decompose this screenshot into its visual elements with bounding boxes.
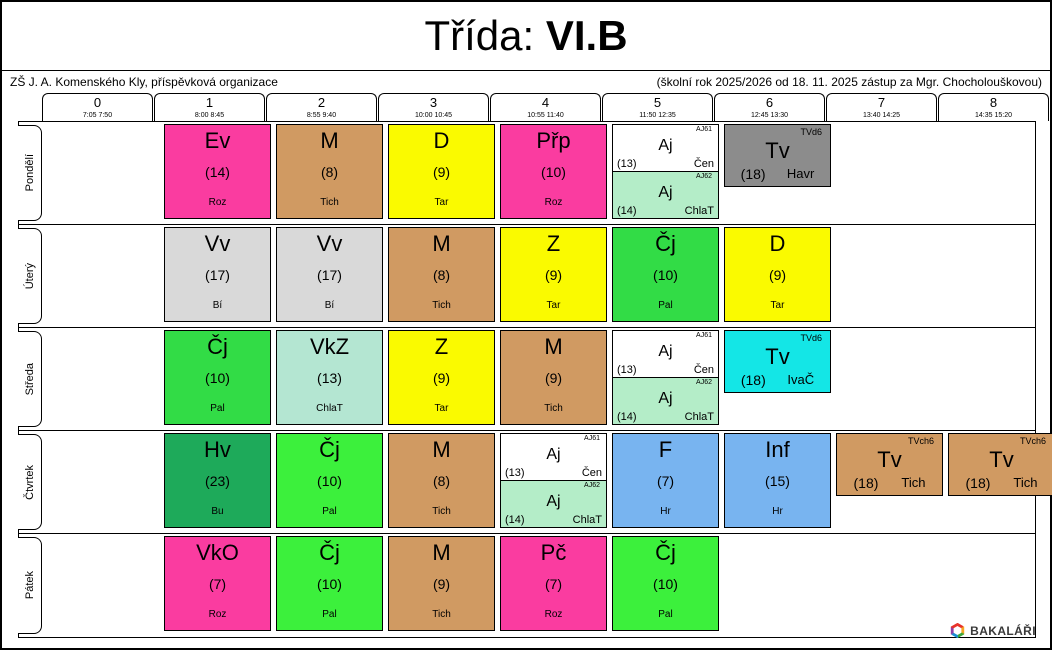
timetable-slot (946, 122, 1052, 224)
lesson-teacher: Tich (389, 610, 494, 620)
day-slots: Čj(10)PalVkZ(13)ChlaTZ(9)TarM(9)TichAJ61… (42, 328, 1052, 430)
lesson-card[interactable]: M(8)Tich (388, 227, 495, 322)
period-number: 2 (318, 96, 325, 109)
day-label: Čtvrtek (24, 465, 36, 500)
timetable-slot: Čj(10)Pal (162, 328, 273, 430)
lesson-teacher: Tich (501, 404, 606, 414)
timetable-slot (50, 225, 161, 327)
timetable-slot: TVch6Tv(18)Tich (946, 431, 1052, 533)
period-header-cell: 612:45 13:30 (714, 93, 825, 121)
lesson-room: (14) (617, 206, 637, 217)
lesson-teacher: Roz (501, 610, 606, 620)
day-row: ÚterýVv(17)BíVv(17)BíM(8)TichZ(9)TarČj(1… (19, 225, 1035, 328)
timetable-slot: F(7)Hr (610, 431, 721, 533)
lesson-teacher: Tich (389, 507, 494, 517)
day-label-tab: Pondělí (18, 125, 42, 221)
lesson-card-group[interactable]: TVch6Tv(18)Tich (836, 433, 943, 496)
lesson-teacher: Roz (501, 198, 606, 208)
period-header-cell: 511:50 12:35 (602, 93, 713, 121)
day-row: StředaČj(10)PalVkZ(13)ChlaTZ(9)TarM(9)Ti… (19, 328, 1035, 431)
timetable-slot: Z(9)Tar (386, 328, 497, 430)
lesson-room: (15) (725, 474, 830, 488)
timetable-slot: Přp(10)Roz (498, 122, 609, 224)
lesson-room: (10) (165, 371, 270, 385)
lesson-subject: Aj (613, 344, 718, 363)
lesson-subject: Tv (949, 449, 1052, 471)
lesson-teacher: ChlaT (277, 404, 382, 414)
lesson-room: (10) (613, 577, 718, 591)
lesson-card[interactable]: Vv(17)Bí (276, 227, 383, 322)
period-time: 8:55 9:40 (307, 111, 336, 120)
period-time: 13:40 14:25 (863, 111, 900, 120)
lesson-teacher: Pal (277, 610, 382, 620)
timetable-slot: Inf(15)Hr (722, 431, 833, 533)
timetable-slot (946, 534, 1052, 637)
bakalari-logo-icon (950, 623, 965, 638)
lesson-card-split: AJ61Aj(13)ČenAJ62Aj(14)ChlaT (612, 124, 719, 219)
lesson-card-group[interactable]: TVd6Tv(18)IvaČ (724, 330, 831, 393)
lesson-room: (13) (617, 365, 637, 376)
lesson-teacher: Tich (1013, 478, 1037, 488)
lesson-room: (10) (613, 268, 718, 282)
lesson-subject: Z (389, 336, 494, 358)
period-time: 7:05 7:50 (83, 111, 112, 120)
lesson-teacher: Havr (787, 169, 814, 179)
timetable-slot (50, 431, 161, 533)
lesson-subject: Vv (277, 233, 382, 255)
lesson-details: (18)IvaČ (725, 373, 830, 387)
lesson-group-half[interactable]: AJ62Aj(14)ChlaT (613, 378, 718, 425)
lesson-subject: M (501, 336, 606, 358)
lesson-room: (9) (501, 268, 606, 282)
period-number: 3 (430, 96, 437, 109)
period-number: 7 (878, 96, 885, 109)
title-bar: Třída: VI.B (2, 2, 1050, 71)
lesson-details: (13)Čen (613, 157, 718, 171)
schedule-note: (školní rok 2025/2026 od 18. 11. 2025 zá… (657, 75, 1042, 89)
lesson-teacher: Bí (165, 301, 270, 311)
period-time: 11:50 12:35 (639, 111, 675, 120)
page-title-class: VI.B (546, 12, 628, 59)
lesson-teacher: Roz (165, 198, 270, 208)
lesson-subject: M (389, 542, 494, 564)
timetable-slot: M(8)Tich (386, 225, 497, 327)
period-header-cell: 713:40 14:25 (826, 93, 937, 121)
lesson-card[interactable]: Přp(10)Roz (500, 124, 607, 219)
lesson-room: (23) (165, 474, 270, 488)
lesson-room: (8) (277, 165, 382, 179)
lesson-room: (14) (617, 412, 637, 423)
timetable-slot (834, 122, 945, 224)
lesson-card[interactable]: F(7)Hr (612, 433, 719, 528)
lesson-subject: Hv (165, 439, 270, 461)
day-label: Pátek (24, 571, 36, 599)
period-header-cell: 310:00 10:45 (378, 93, 489, 121)
lesson-card[interactable]: M(9)Tich (388, 536, 495, 631)
lesson-teacher: Tar (725, 301, 830, 311)
period-time: 8:00 8:45 (195, 111, 224, 120)
day-slots: Hv(23)BuČj(10)PalM(8)TichAJ61Aj(13)ČenAJ… (42, 431, 1052, 533)
lesson-details: (13)Čen (501, 466, 606, 480)
lesson-teacher: Hr (725, 507, 830, 517)
lesson-teacher: ChlaT (685, 206, 714, 217)
lesson-subject: Čj (613, 233, 718, 255)
lesson-subject: Čj (277, 439, 382, 461)
lesson-room: (7) (165, 577, 270, 591)
lesson-teacher: Tich (277, 198, 382, 208)
timetable-slot (50, 534, 161, 637)
lesson-room: (18) (741, 167, 766, 181)
timetable-slot: Pč(7)Roz (498, 534, 609, 637)
timetable-slot: Ev(14)Roz (162, 122, 273, 224)
lesson-subject: VkZ (277, 336, 382, 358)
lesson-subject: Aj (613, 185, 718, 205)
lesson-subject: Čj (613, 542, 718, 564)
lesson-teacher: Bu (165, 507, 270, 517)
day-label: Pondělí (24, 154, 36, 191)
lesson-details: (14)ChlaT (501, 513, 606, 527)
lesson-room: (17) (165, 268, 270, 282)
lesson-subject: Tv (837, 449, 942, 471)
lesson-teacher: Čen (694, 159, 714, 170)
lesson-subject: Aj (501, 447, 606, 466)
lesson-details: (18)Havr (725, 167, 830, 181)
lesson-group: TVch6 (949, 436, 1052, 447)
timetable-slot: Čj(10)Pal (274, 534, 385, 637)
bakalari-logo-text: BAKALÁŘI (970, 624, 1036, 638)
lesson-card[interactable]: M(8)Tich (276, 124, 383, 219)
period-number: 5 (654, 96, 661, 109)
lesson-card-split: AJ61Aj(13)ČenAJ62Aj(14)ChlaT (612, 330, 719, 425)
timetable-slot: Čj(10)Pal (274, 431, 385, 533)
day-row: PátekVkO(7)RozČj(10)PalM(9)TichPč(7)RozČ… (19, 534, 1035, 637)
bakalari-logo: BAKALÁŘI (950, 623, 1036, 638)
timetable-slot: M(8)Tich (274, 122, 385, 224)
period-header-cell: 28:55 9:40 (266, 93, 377, 121)
timetable-slot (50, 122, 161, 224)
lesson-card[interactable]: Čj(10)Pal (276, 536, 383, 631)
day-label: Úterý (24, 263, 36, 289)
day-slots: VkO(7)RozČj(10)PalM(9)TichPč(7)RozČj(10)… (42, 534, 1052, 637)
lesson-details: (14)ChlaT (613, 204, 718, 218)
lesson-room: (14) (165, 165, 270, 179)
lesson-teacher: Tich (389, 301, 494, 311)
lesson-room: (9) (389, 371, 494, 385)
timetable-slot (722, 534, 833, 637)
lesson-teacher: ChlaT (573, 515, 602, 526)
lesson-group-half[interactable]: AJ61Aj(13)Čen (613, 331, 718, 378)
lesson-details: (14)ChlaT (613, 410, 718, 424)
lesson-card[interactable]: Čj(10)Pal (612, 536, 719, 631)
timetable-slot: Vv(17)Bí (162, 225, 273, 327)
timetable-slot: TVd6Tv(18)Havr (722, 122, 833, 224)
day-row: ČtvrtekHv(23)BuČj(10)PalM(8)TichAJ61Aj(1… (19, 431, 1035, 534)
timetable-slot (834, 534, 945, 637)
period-time: 14:35 15:20 (975, 111, 1012, 120)
timetable-slot: Hv(23)Bu (162, 431, 273, 533)
timetable-slot: D(9)Tar (386, 122, 497, 224)
lesson-group: AJ62 (613, 172, 718, 185)
lesson-subject: Vv (165, 233, 270, 255)
timetable-slot: VkO(7)Roz (162, 534, 273, 637)
lesson-teacher: IvaČ (787, 375, 814, 385)
timetable-slot: Čj(10)Pal (610, 534, 721, 637)
lesson-card[interactable]: Hv(23)Bu (164, 433, 271, 528)
lesson-group-half[interactable]: AJ62Aj(14)ChlaT (613, 172, 718, 219)
lesson-subject: Aj (501, 494, 606, 514)
lesson-card[interactable]: M(9)Tich (500, 330, 607, 425)
lesson-subject: D (389, 130, 494, 152)
lesson-subject: M (389, 233, 494, 255)
day-label-tab: Čtvrtek (18, 434, 42, 530)
lesson-teacher: Pal (165, 404, 270, 414)
lesson-teacher: ChlaT (685, 412, 714, 423)
lesson-card[interactable]: Pč(7)Roz (500, 536, 607, 631)
period-number: 0 (94, 96, 101, 109)
lesson-teacher: Čen (582, 468, 602, 479)
lesson-teacher: Čen (694, 365, 714, 376)
timetable-slot (834, 328, 945, 430)
lesson-room: (18) (741, 373, 766, 387)
lesson-room: (13) (505, 468, 525, 479)
lesson-room: (10) (277, 474, 382, 488)
day-slots: Ev(14)RozM(8)TichD(9)TarPřp(10)RozAJ61Aj… (42, 122, 1052, 224)
lesson-subject: F (613, 439, 718, 461)
lesson-teacher: Tar (389, 404, 494, 414)
period-header-cell: 18:00 8:45 (154, 93, 265, 121)
timetable-slot (946, 328, 1052, 430)
lesson-teacher: Hr (613, 507, 718, 517)
timetable-slot (946, 225, 1052, 327)
day-slots: Vv(17)BíVv(17)BíM(8)TichZ(9)TarČj(10)Pal… (42, 225, 1052, 327)
lesson-card[interactable]: Čj(10)Pal (164, 330, 271, 425)
lesson-card[interactable]: VkO(7)Roz (164, 536, 271, 631)
lesson-subject: Z (501, 233, 606, 255)
period-header-cell: 410:55 11:40 (490, 93, 601, 121)
lesson-subject: Aj (613, 391, 718, 411)
lesson-card-group[interactable]: TVch6Tv(18)Tich (948, 433, 1052, 496)
timetable-slot: M(8)Tich (386, 431, 497, 533)
lesson-room: (9) (389, 165, 494, 179)
timetable-slot: Čj(10)Pal (610, 225, 721, 327)
lesson-card[interactable]: Čj(10)Pal (276, 433, 383, 528)
period-time: 12:45 13:30 (751, 111, 788, 120)
school-name: ZŠ J. A. Komenského Kly, příspěvková org… (10, 75, 278, 89)
timetable-slot: M(9)Tich (386, 534, 497, 637)
lesson-room: (18) (966, 476, 991, 490)
day-label-tab: Pátek (18, 537, 42, 634)
lesson-card[interactable]: Inf(15)Hr (724, 433, 831, 528)
lesson-group: TVd6 (725, 127, 830, 138)
lesson-room: (13) (617, 159, 637, 170)
lesson-subject: Přp (501, 130, 606, 152)
timetable-page: Třída: VI.B ZŠ J. A. Komenského Kly, pří… (0, 0, 1052, 650)
lesson-teacher: Roz (165, 610, 270, 620)
lesson-card[interactable]: M(8)Tich (388, 433, 495, 528)
lesson-room: (7) (501, 577, 606, 591)
timetable-grid: 07:05 7:5018:00 8:4528:55 9:40310:00 10:… (2, 93, 1050, 638)
lesson-card[interactable]: D(9)Tar (388, 124, 495, 219)
lesson-room: (9) (501, 371, 606, 385)
lesson-subject: Aj (613, 138, 718, 157)
lesson-room: (8) (389, 268, 494, 282)
timetable-slot: AJ61Aj(13)ČenAJ62Aj(14)ChlaT (610, 328, 721, 430)
lesson-details: (18)Tich (949, 476, 1052, 490)
lesson-room: (7) (613, 474, 718, 488)
lesson-card-split: AJ61Aj(13)ČenAJ62Aj(14)ChlaT (500, 433, 607, 528)
lesson-card[interactable]: Čj(10)Pal (612, 227, 719, 322)
lesson-room: (9) (389, 577, 494, 591)
day-label-tab: Středa (18, 331, 42, 427)
lesson-room: (13) (277, 371, 382, 385)
lesson-subject: Pč (501, 542, 606, 564)
lesson-room: (9) (725, 268, 830, 282)
timetable-slot (834, 225, 945, 327)
lesson-room: (14) (505, 515, 525, 526)
period-time: 10:00 10:45 (415, 111, 452, 120)
day-rows: PondělíEv(14)RozM(8)TichD(9)TarPřp(10)Ro… (18, 121, 1036, 638)
day-label-tab: Úterý (18, 228, 42, 324)
lesson-teacher: Tar (501, 301, 606, 311)
lesson-teacher: Tar (389, 198, 494, 208)
lesson-card[interactable]: Z(9)Tar (500, 227, 607, 322)
timetable-slot: AJ61Aj(13)ČenAJ62Aj(14)ChlaT (498, 431, 609, 533)
timetable-slot: D(9)Tar (722, 225, 833, 327)
lesson-card[interactable]: VkZ(13)ChlaT (276, 330, 383, 425)
timetable-slot: M(9)Tich (498, 328, 609, 430)
lesson-subject: Ev (165, 130, 270, 152)
lesson-group-half[interactable]: AJ62Aj(14)ChlaT (501, 481, 606, 528)
lesson-subject: Tv (725, 140, 830, 162)
lesson-room: (10) (501, 165, 606, 179)
lesson-teacher: Tich (901, 478, 925, 488)
lesson-group-half[interactable]: AJ61Aj(13)Čen (501, 434, 606, 481)
lesson-room: (8) (389, 474, 494, 488)
timetable-slot: Z(9)Tar (498, 225, 609, 327)
lesson-card[interactable]: Z(9)Tar (388, 330, 495, 425)
lesson-card-group[interactable]: TVd6Tv(18)Havr (724, 124, 831, 187)
period-header-cell: 814:35 15:20 (938, 93, 1049, 121)
subtitle-bar: ZŠ J. A. Komenského Kly, příspěvková org… (2, 71, 1050, 93)
lesson-details: (13)Čen (613, 363, 718, 377)
lesson-subject: Inf (725, 439, 830, 461)
page-title-prefix: Třída: (424, 12, 545, 59)
lesson-subject: M (277, 130, 382, 152)
lesson-card[interactable]: Vv(17)Bí (164, 227, 271, 322)
lesson-subject: VkO (165, 542, 270, 564)
period-number: 4 (542, 96, 549, 109)
timetable-slot (50, 328, 161, 430)
period-header-cell: 07:05 7:50 (42, 93, 153, 121)
period-time: 10:55 11:40 (527, 111, 563, 120)
lesson-room: (17) (277, 268, 382, 282)
lesson-group: TVd6 (725, 333, 830, 344)
timetable-slot: AJ61Aj(13)ČenAJ62Aj(14)ChlaT (610, 122, 721, 224)
lesson-room: (18) (854, 476, 879, 490)
lesson-details: (18)Tich (837, 476, 942, 490)
lesson-teacher: Pal (613, 610, 718, 620)
lesson-subject: M (389, 439, 494, 461)
lesson-subject: Tv (725, 346, 830, 368)
lesson-group: AJ62 (613, 378, 718, 391)
lesson-group: TVch6 (837, 436, 942, 447)
timetable-slot: TVch6Tv(18)Tich (834, 431, 945, 533)
timetable-slot: Vv(17)Bí (274, 225, 385, 327)
period-number: 1 (206, 96, 213, 109)
period-number: 8 (990, 96, 997, 109)
lesson-room: (10) (277, 577, 382, 591)
lesson-teacher: Pal (277, 507, 382, 517)
lesson-teacher: Bí (277, 301, 382, 311)
lesson-card[interactable]: Ev(14)Roz (164, 124, 271, 219)
period-number: 6 (766, 96, 773, 109)
lesson-subject: D (725, 233, 830, 255)
lesson-group: AJ62 (501, 481, 606, 494)
day-row: PondělíEv(14)RozM(8)TichD(9)TarPřp(10)Ro… (19, 122, 1035, 225)
period-header-row: 07:05 7:5018:00 8:4528:55 9:40310:00 10:… (42, 93, 1044, 121)
day-label: Středa (24, 363, 36, 395)
lesson-subject: Čj (277, 542, 382, 564)
lesson-subject: Čj (165, 336, 270, 358)
timetable-slot: TVd6Tv(18)IvaČ (722, 328, 833, 430)
lesson-teacher: Pal (613, 301, 718, 311)
lesson-group-half[interactable]: AJ61Aj(13)Čen (613, 125, 718, 172)
lesson-card[interactable]: D(9)Tar (724, 227, 831, 322)
page-title: Třída: VI.B (424, 12, 627, 60)
timetable-slot: VkZ(13)ChlaT (274, 328, 385, 430)
